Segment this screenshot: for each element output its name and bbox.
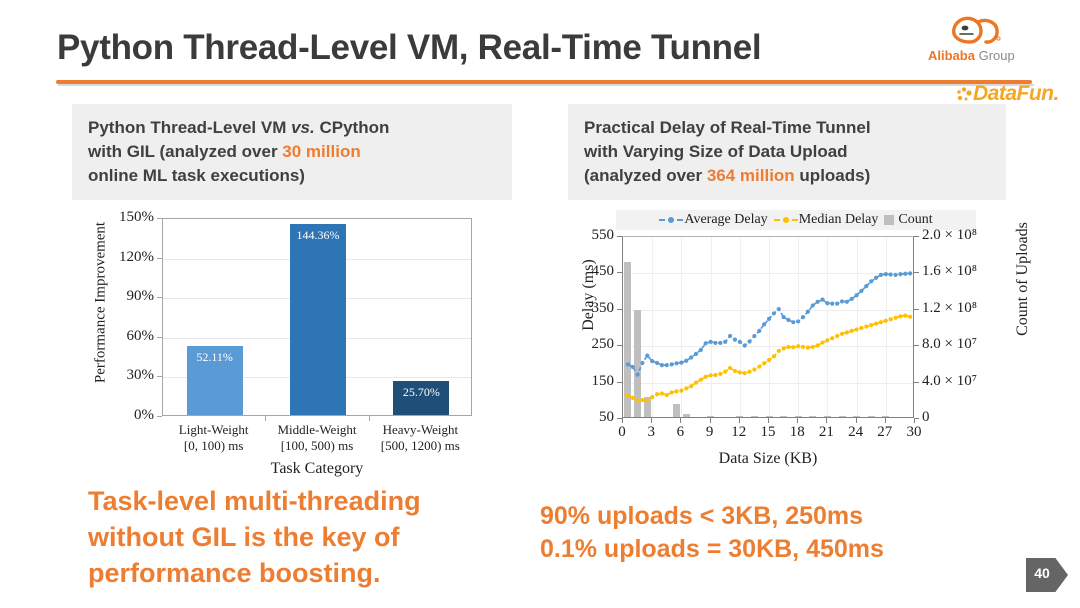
right-chart-data-point — [806, 310, 810, 314]
left-chart-x-tick-mark — [369, 416, 370, 421]
right-chart-data-point — [889, 317, 893, 321]
left-chart-category-label: Middle-Weight[100, 500) ms — [265, 422, 368, 455]
right-chart-secondary-y-tick-mark — [914, 345, 919, 346]
right-chart-x-tick-label: 18 — [782, 424, 812, 441]
left-header-vs: vs. — [291, 118, 315, 137]
right-chart-data-point — [728, 334, 732, 338]
right-chart-data-point — [893, 316, 897, 320]
right-header-line3b: uploads) — [795, 166, 871, 185]
left-chart-category-label: Heavy-Weight[500, 1200) ms — [369, 422, 472, 455]
right-chart-data-point — [738, 340, 742, 344]
right-chart-x-tick-mark — [914, 418, 915, 423]
right-chart-data-point — [728, 366, 732, 370]
right-chart-data-point — [631, 365, 635, 369]
right-chart-legend-square-swatch — [884, 215, 894, 225]
right-chart-data-point — [777, 307, 781, 311]
right-chart-data-point — [747, 339, 751, 343]
right-chart-data-point — [796, 344, 800, 348]
slide-number-text: 40 — [1026, 565, 1058, 581]
right-chart-x-tick-mark — [885, 418, 886, 423]
right-chart-data-point — [655, 361, 659, 365]
right-header-accent: 364 million — [707, 166, 795, 185]
left-chart-y-tick-label: 150% — [84, 209, 154, 226]
right-chart-data-point — [830, 336, 834, 340]
right-chart-data-point — [757, 329, 761, 333]
left-chart-y-tick-mark — [157, 297, 162, 298]
right-chart-data-point — [850, 297, 854, 301]
right-chart-secondary-y-tick-label: 2.0 × 10⁸ — [922, 227, 1018, 244]
right-chart-data-point — [645, 398, 649, 402]
right-chart-data-point — [777, 349, 781, 353]
right-chart-data-point — [723, 370, 727, 374]
right-chart-data-point — [811, 303, 815, 307]
left-header-accent: 30 million — [282, 142, 360, 161]
right-chart-y-tick-label: 250 — [560, 336, 614, 353]
right-chart-data-point — [684, 359, 688, 363]
right-chart-data-point — [772, 311, 776, 315]
right-header-line3a: (analyzed over — [584, 166, 707, 185]
right-chart-y-tick-mark — [617, 382, 622, 383]
right-chart-data-point — [845, 300, 849, 304]
performance-improvement-chart: Performance Improvement 52.11%144.36%25.… — [78, 208, 498, 476]
right-chart-data-point — [806, 346, 810, 350]
right-chart-data-point — [801, 315, 805, 319]
right-chart-data-point — [752, 367, 756, 371]
right-chart-data-point — [640, 361, 644, 365]
right-chart-x-tick-label: 27 — [870, 424, 900, 441]
right-chart-data-point — [893, 273, 897, 277]
right-chart-data-point — [743, 371, 747, 375]
left-chart-category-name: Middle-Weight — [265, 422, 368, 438]
right-chart-data-point — [660, 391, 664, 395]
right-chart-data-point — [733, 369, 737, 373]
right-chart-data-point — [684, 386, 688, 390]
left-header-line2a: with GIL (analyzed over — [88, 142, 282, 161]
right-chart-data-point — [820, 298, 824, 302]
right-chart-y-tick-mark — [617, 236, 622, 237]
alibaba-logo: Alibaba Group — [928, 14, 1038, 66]
left-chart-y-tick-mark — [157, 258, 162, 259]
right-chart-legend-line-swatch — [774, 214, 798, 226]
right-chart-data-point — [704, 375, 708, 379]
right-chart-data-point — [752, 334, 756, 338]
right-chart-data-point — [845, 330, 849, 334]
right-chart-secondary-y-tick-label: 1.6 × 10⁸ — [922, 263, 1018, 280]
right-chart-data-point — [820, 340, 824, 344]
right-chart-data-point — [689, 355, 693, 359]
right-takeaway-line2: 0.1% uploads = 30KB, 450ms — [540, 533, 1010, 566]
right-chart-data-point — [879, 320, 883, 324]
right-chart-data-point — [733, 338, 737, 342]
left-chart-bar-value-label: 25.70% — [393, 385, 449, 400]
left-chart-y-tick-label: 0% — [84, 407, 154, 424]
left-chart-y-tick-mark — [157, 337, 162, 338]
right-chart-data-point — [811, 345, 815, 349]
left-chart-category-label: Light-Weight[0, 100) ms — [162, 422, 265, 455]
right-chart-data-point — [757, 364, 761, 368]
right-chart-data-point — [709, 340, 713, 344]
right-chart-data-point — [699, 378, 703, 382]
left-header-line1b: CPython — [315, 118, 390, 137]
left-chart-category-name: Light-Weight — [162, 422, 265, 438]
right-chart-x-tick-mark — [826, 418, 827, 423]
right-chart-y-tick-mark — [617, 272, 622, 273]
left-chart-x-axis-label: Task Category — [162, 460, 472, 478]
right-chart-x-tick-label: 15 — [753, 424, 783, 441]
right-chart-secondary-y-tick-label: 0 — [922, 409, 1018, 426]
right-chart-data-point — [704, 341, 708, 345]
right-chart-x-tick-mark — [680, 418, 681, 423]
right-chart-y-tick-mark — [617, 345, 622, 346]
left-chart-y-tick-mark — [157, 416, 162, 417]
right-chart-data-point — [791, 345, 795, 349]
right-chart-data-point — [626, 393, 630, 397]
right-chart-data-point — [801, 345, 805, 349]
right-chart-data-point — [835, 334, 839, 338]
right-chart-data-point — [908, 271, 912, 275]
right-chart-y-tick-mark — [617, 309, 622, 310]
right-chart-data-point — [665, 363, 669, 367]
left-panel-header: Python Thread-Level VM vs. CPython with … — [72, 104, 512, 200]
right-chart-data-point — [694, 352, 698, 356]
right-chart-data-point — [859, 326, 863, 330]
title-bar: Python Thread-Level VM, Real-Time Tunnel — [0, 14, 1080, 76]
right-chart-data-point — [679, 360, 683, 364]
alibaba-group-word: Group — [979, 48, 1015, 63]
right-takeaway-line1: 90% uploads < 3KB, 250ms — [540, 500, 1010, 533]
right-header-line2: with Varying Size of Data Upload — [584, 142, 848, 161]
page-title: Python Thread-Level VM, Real-Time Tunnel — [57, 28, 761, 68]
right-chart-data-point — [874, 322, 878, 326]
right-chart-data-point — [772, 354, 776, 358]
right-chart-data-point — [655, 392, 659, 396]
left-chart-bar: 25.70% — [393, 381, 449, 415]
right-chart-series-layer — [623, 237, 915, 419]
right-chart-data-point — [718, 341, 722, 345]
right-chart-x-tick-label: 21 — [811, 424, 841, 441]
right-chart-legend-item: Median Delay — [774, 212, 879, 228]
right-chart-data-point — [645, 354, 649, 358]
left-chart-bar: 52.11% — [187, 346, 243, 415]
right-chart-secondary-y-tick-mark — [914, 272, 919, 273]
left-chart-bar-value-label: 52.11% — [187, 350, 243, 365]
right-chart-data-point — [786, 345, 790, 349]
right-chart-data-point — [660, 363, 664, 367]
right-chart-x-tick-label: 9 — [695, 424, 725, 441]
right-chart-x-tick-label: 3 — [636, 424, 666, 441]
right-chart-data-point — [889, 272, 893, 276]
right-chart-secondary-y-tick-mark — [914, 236, 919, 237]
alibaba-name: Alibaba — [928, 48, 975, 63]
right-chart-data-point — [908, 315, 912, 319]
right-chart-data-point — [640, 398, 644, 402]
right-chart-secondary-y-tick-label: 8.0 × 10⁷ — [922, 336, 1018, 353]
right-chart-legend-label: Average Delay — [684, 212, 767, 228]
right-chart-x-tick-mark — [797, 418, 798, 423]
right-chart-secondary-y-tick-label: 1.2 × 10⁸ — [922, 300, 1018, 317]
left-header-line1a: Python Thread-Level VM — [88, 118, 291, 137]
left-chart-y-tick-label: 60% — [84, 328, 154, 345]
right-chart-secondary-y-tick-label: 4.0 × 10⁷ — [922, 373, 1018, 390]
right-chart-data-point — [670, 390, 674, 394]
right-chart-legend-item: Count — [884, 212, 932, 228]
right-chart-x-tick-mark — [739, 418, 740, 423]
left-header-line3: online ML task executions) — [88, 166, 305, 185]
right-chart-data-point — [689, 384, 693, 388]
right-chart-data-point — [903, 272, 907, 276]
right-chart-data-point — [869, 323, 873, 327]
right-chart-data-point — [786, 318, 790, 322]
right-chart-data-point — [855, 293, 859, 297]
right-chart-data-point — [709, 373, 713, 377]
left-chart-category-range: [0, 100) ms — [162, 438, 265, 454]
right-chart-data-point — [738, 370, 742, 374]
right-chart-legend-line-swatch — [659, 214, 683, 226]
right-chart-x-tick-label: 12 — [724, 424, 754, 441]
right-chart-data-point — [713, 373, 717, 377]
left-chart-plot-area: 52.11%144.36%25.70% — [162, 218, 472, 416]
right-chart-data-point — [855, 327, 859, 331]
right-chart-data-point — [859, 289, 863, 293]
right-chart-data-point — [869, 279, 873, 283]
right-chart-data-point — [884, 272, 888, 276]
right-chart-legend-label: Median Delay — [799, 212, 879, 228]
right-chart-data-point — [903, 314, 907, 318]
right-chart-data-point — [835, 302, 839, 306]
right-chart-data-point — [762, 322, 766, 326]
right-chart-data-point — [791, 320, 795, 324]
datafun-logo-text: DataFun. — [973, 82, 1059, 106]
right-chart-y-tick-label: 350 — [560, 300, 614, 317]
right-chart-x-tick-mark — [856, 418, 857, 423]
right-panel-header: Practical Delay of Real-Time Tunnel with… — [568, 104, 1006, 200]
right-chart-data-point — [650, 395, 654, 399]
right-chart-x-tick-label: 0 — [607, 424, 637, 441]
right-chart-data-point — [816, 343, 820, 347]
right-chart-y-tick-label: 150 — [560, 373, 614, 390]
right-chart-data-point — [782, 315, 786, 319]
right-chart-data-point — [636, 372, 640, 376]
right-chart-data-point — [713, 341, 717, 345]
right-chart-x-tick-mark — [651, 418, 652, 423]
right-chart-y-tick-label: 450 — [560, 263, 614, 280]
left-chart-category-range: [100, 500) ms — [265, 438, 368, 454]
right-chart-data-point — [840, 332, 844, 336]
title-underline-shadow — [58, 84, 1034, 86]
right-chart-data-point — [674, 389, 678, 393]
right-chart-data-point — [767, 358, 771, 362]
right-chart-data-point — [898, 314, 902, 318]
right-chart-x-tick-mark — [768, 418, 769, 423]
left-chart-y-tick-label: 30% — [84, 367, 154, 384]
right-chart-data-point — [850, 329, 854, 333]
right-chart-data-point — [767, 317, 771, 321]
right-chart-data-point — [679, 389, 683, 393]
left-chart-bar-value-label: 144.36% — [290, 228, 346, 243]
left-chart-y-tick-mark — [157, 376, 162, 377]
right-chart-x-tick-label: 30 — [899, 424, 929, 441]
right-chart-data-point — [874, 276, 878, 280]
slide-number-badge: 40 — [1026, 558, 1068, 592]
right-chart-data-point — [898, 272, 902, 276]
left-chart-category-range: [500, 1200) ms — [369, 438, 472, 454]
left-chart-category-name: Heavy-Weight — [369, 422, 472, 438]
right-chart-x-axis-label: Data Size (KB) — [622, 450, 914, 468]
right-chart-data-point — [631, 396, 635, 400]
right-chart-data-point — [762, 361, 766, 365]
right-chart-data-point — [699, 348, 703, 352]
right-chart-data-point — [816, 300, 820, 304]
right-chart-x-tick-mark — [710, 418, 711, 423]
left-chart-x-tick-mark — [265, 416, 266, 421]
right-chart-secondary-y-tick-mark — [914, 309, 919, 310]
right-chart-x-tick-mark — [622, 418, 623, 423]
right-chart-data-point — [782, 346, 786, 350]
right-chart-data-point — [864, 284, 868, 288]
right-header-line1: Practical Delay of Real-Time Tunnel — [584, 118, 871, 137]
right-chart-data-point — [840, 299, 844, 303]
left-chart-y-tick-mark — [157, 218, 162, 219]
right-chart-legend-label: Count — [898, 212, 932, 228]
right-chart-secondary-y-tick-mark — [914, 382, 919, 383]
right-chart-x-tick-label: 24 — [841, 424, 871, 441]
right-chart-data-point — [650, 359, 654, 363]
right-chart-data-point — [743, 343, 747, 347]
right-chart-x-tick-label: 6 — [665, 424, 695, 441]
left-chart-y-tick-label: 120% — [84, 249, 154, 266]
right-chart-legend-item: Average Delay — [659, 212, 767, 228]
right-chart-data-point — [718, 372, 722, 376]
right-chart-data-point — [796, 319, 800, 323]
right-chart-data-point — [864, 324, 868, 328]
right-chart-data-point — [884, 319, 888, 323]
real-time-tunnel-delay-chart: Average DelayMedian DelayCount Delay (ms… — [566, 210, 1026, 478]
right-chart-data-point — [694, 381, 698, 385]
right-chart-y-tick-label: 550 — [560, 227, 614, 244]
slide: Python Thread-Level VM, Real-Time Tunnel… — [0, 0, 1080, 608]
left-chart-y-tick-label: 90% — [84, 288, 154, 305]
right-chart-data-point — [636, 398, 640, 402]
right-chart-y-tick-label: 50 — [560, 409, 614, 426]
right-chart-data-point — [723, 340, 727, 344]
right-chart-data-point — [626, 362, 630, 366]
alibaba-logo-text: Alibaba Group — [928, 48, 1015, 63]
right-chart-data-point — [830, 302, 834, 306]
right-chart-plot-area — [622, 236, 914, 418]
left-chart-bar: 144.36% — [290, 224, 346, 415]
right-takeaway: 90% uploads < 3KB, 250ms 0.1% uploads = … — [540, 500, 1010, 567]
right-chart-data-point — [825, 338, 829, 342]
right-chart-data-point — [747, 370, 751, 374]
left-takeaway-text: Task-level multi-threading without GIL i… — [88, 484, 508, 592]
right-chart-data-point — [674, 361, 678, 365]
right-chart-data-point — [665, 393, 669, 397]
right-chart-data-point — [879, 273, 883, 277]
right-chart-data-point — [825, 301, 829, 305]
right-chart-data-point — [670, 362, 674, 366]
